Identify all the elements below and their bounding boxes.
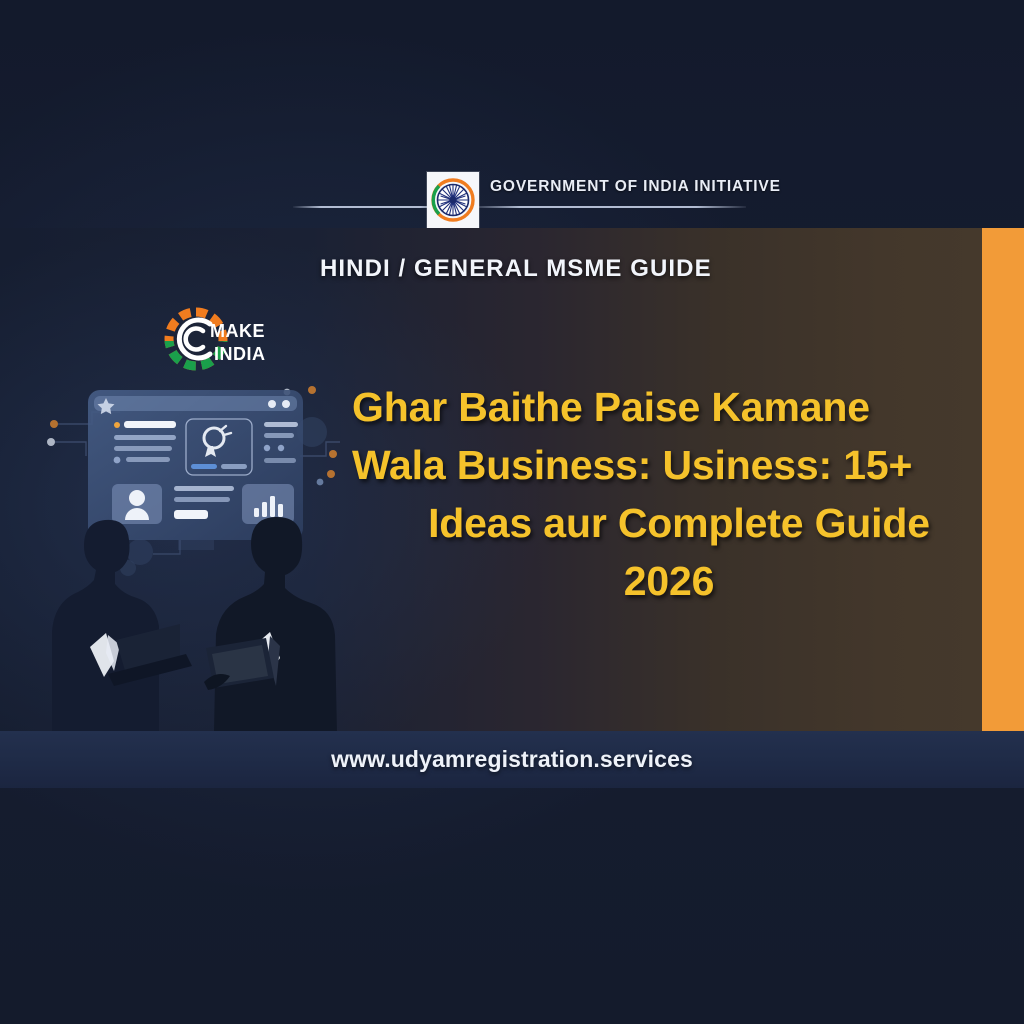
title-line-4: 2026 — [352, 552, 972, 610]
divider-left — [293, 206, 448, 208]
footer-band: www.udyamregistration.services — [0, 731, 1024, 788]
make-label: MAKE — [210, 321, 265, 341]
poster-canvas: GOVERNMENT OF INDIA INITIATIVE HINDI / G… — [0, 0, 1024, 1024]
title-line-2: Wala Business: Usiness: 15+ — [352, 436, 972, 494]
title-line-1: Ghar Baithe Paise Kamane — [352, 378, 972, 436]
government-initiative-label: GOVERNMENT OF INDIA INITIATIVE — [490, 178, 781, 196]
divider-right — [470, 206, 746, 208]
accent-bar — [982, 228, 1024, 732]
website-url[interactable]: www.udyamregistration.services — [331, 746, 693, 773]
category-eyebrow: HINDI / GENERAL MSME GUIDE — [320, 255, 712, 283]
page-title: Ghar Baithe Paise Kamane Wala Business: … — [352, 378, 972, 610]
business-professionals-dashboard-illustration — [28, 382, 364, 732]
ashoka-chakra-emblem-icon — [427, 172, 479, 228]
make-in-india-gear-lion-icon: MAKE INDIA — [158, 303, 280, 375]
india-label: INDIA — [214, 344, 266, 364]
person-silhouette-right — [214, 517, 337, 732]
title-line-3: Ideas aur Complete Guide — [352, 494, 972, 552]
